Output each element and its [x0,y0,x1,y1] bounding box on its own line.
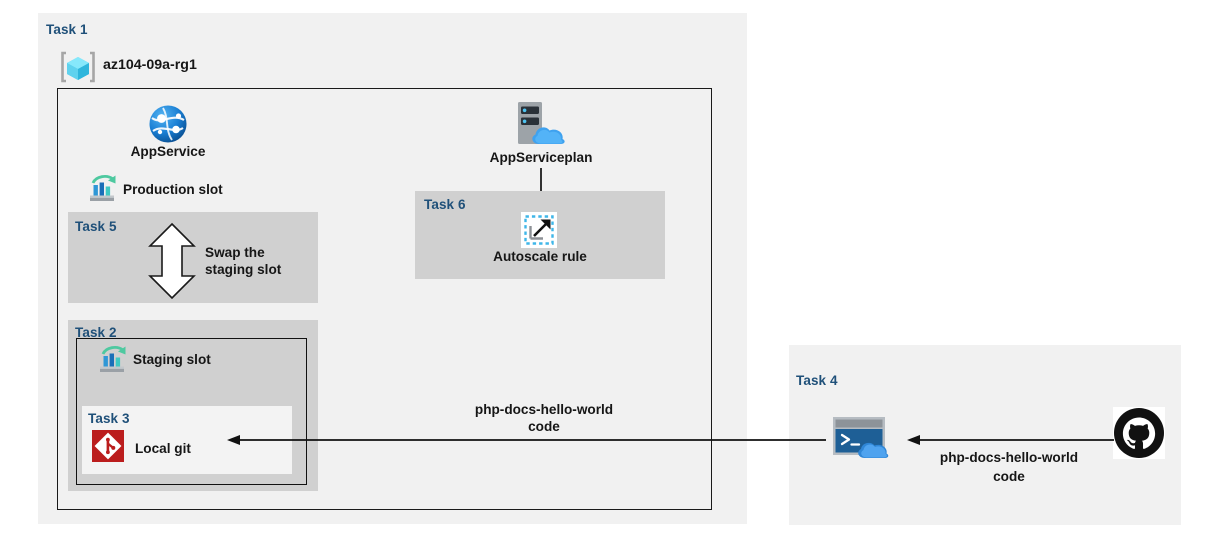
resource-group-name: az104-09a-rg1 [103,57,197,74]
app-service-label: AppService [108,143,228,160]
local-git-label: Local git [135,440,191,457]
double-headed-vertical-arrow-icon [144,222,200,300]
task1-label: Task 1 [46,22,88,37]
autoscale-rule-icon [521,212,557,248]
app-service-plan-label: AppServiceplan [451,149,631,166]
center-flow-label-line1: php-docs-hello-world [444,401,644,418]
task5-text-line2: staging slot [205,261,281,278]
production-slot-icon [87,174,119,204]
github-icon [1113,407,1165,459]
staging-slot-icon [97,345,129,375]
task4-arrow-label-line2: code [909,468,1109,485]
diagram-canvas: Task 1 az104-09a-rg1 [0,0,1218,545]
app-service-icon [148,104,188,144]
resource-group-icon [60,50,96,84]
cloudshell-to-local-git-connector [226,432,826,448]
task5-text-line1: Swap the [205,244,265,261]
task4-label: Task 4 [796,373,838,388]
app-service-plan-icon [512,100,570,148]
cloud-shell-icon [831,414,899,462]
git-icon [92,430,124,462]
autoscale-rule-label: Autoscale rule [450,248,630,265]
production-slot-label: Production slot [123,181,223,198]
staging-slot-label: Staging slot [133,351,211,368]
github-to-cloudshell-connector [906,432,1114,448]
task4-arrow-label-line1: php-docs-hello-world [909,449,1109,466]
task5-label: Task 5 [75,219,117,234]
task6-label: Task 6 [424,197,466,212]
task3-label: Task 3 [88,411,130,426]
